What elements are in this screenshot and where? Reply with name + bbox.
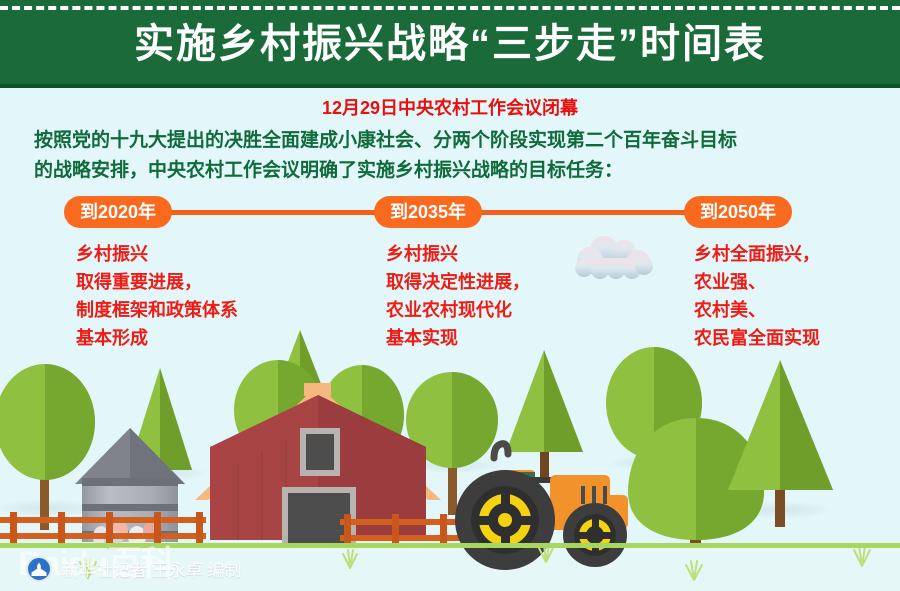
xinhua-logo-glyph [32, 562, 47, 576]
page-title: 实施乡村振兴战略“三步走”时间表 [0, 17, 900, 71]
subheadline: 12月29日中央农村工作会议闭幕 [0, 96, 900, 120]
goal-line: 基本形成 [76, 324, 238, 352]
intro-line-1: 按照党的十九大提出的决胜全面建成小康社会、分两个阶段实现第二个百年奋斗目标 [34, 126, 874, 156]
goal-line: 农业强、 [694, 268, 820, 296]
xinhua-logo-icon [26, 556, 52, 582]
banner-bottom-edge [0, 84, 900, 88]
tree-pine-center [506, 350, 583, 480]
infographic-poster: 实施乡村振兴战略“三步走”时间表 12月29日中央农村工作会议闭幕 按照党的十九… [0, 0, 900, 591]
goal-column-2035: 乡村振兴 取得决定性进展， 农业农村现代化 基本实现 [386, 240, 530, 352]
goal-line: 农民富全面实现 [694, 324, 820, 352]
cloud-icon [566, 236, 660, 282]
milestone-pill-2020[interactable]: 到2020年 [64, 196, 172, 228]
milestone-pill-2050[interactable]: 到2050年 [684, 196, 792, 228]
timeline-connector-1 [150, 210, 390, 215]
intro-paragraph: 按照党的十九大提出的决胜全面建成小康社会、分两个阶段实现第二个百年奋斗目标 的战… [34, 126, 874, 186]
goal-line: 农业农村现代化 [386, 296, 530, 324]
goal-line: 乡村振兴 [386, 240, 530, 268]
goal-line: 制度框架和政策体系 [76, 296, 238, 324]
intro-line-2: 的战略安排，中央农村工作会议明确了实施乡村振兴战略的目标任务： [34, 156, 874, 186]
goal-line: 取得重要进展， [76, 268, 238, 296]
goal-column-2020: 乡村振兴 取得重要进展， 制度框架和政策体系 基本形成 [76, 240, 238, 352]
goal-line: 基本实现 [386, 324, 530, 352]
timeline: 到2020年 到2035年 到2050年 [0, 196, 900, 228]
goal-line: 乡村振兴 [76, 240, 238, 268]
goal-column-2050: 乡村全面振兴， 农业强、 农村美、 农民富全面实现 [694, 240, 820, 352]
timeline-connector-2 [460, 210, 700, 215]
milestone-pill-2035[interactable]: 到2035年 [374, 196, 482, 228]
credit-text: 新华社记者 王永卓 编制 [62, 556, 241, 581]
goal-line: 农村美、 [694, 296, 820, 324]
ground-edge [0, 543, 900, 548]
banner-dashed-rule [0, 6, 900, 10]
goal-line: 取得决定性进展， [386, 268, 530, 296]
goal-line: 乡村全面振兴， [694, 240, 820, 268]
